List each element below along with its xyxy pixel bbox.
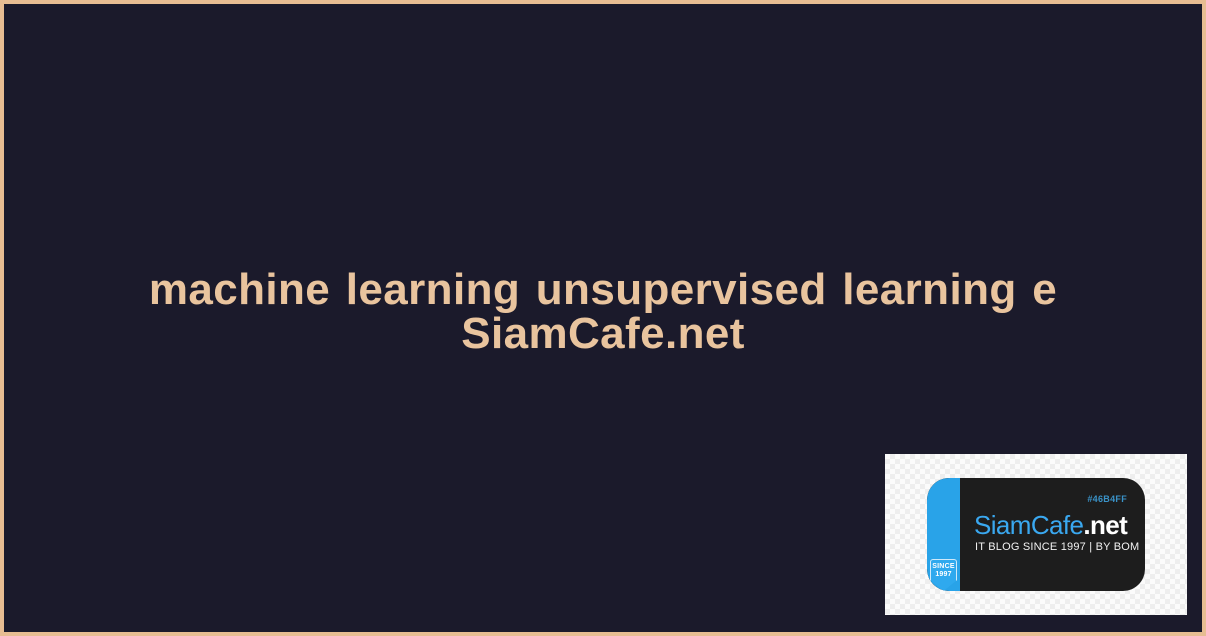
logo-image-figure[interactable]: SINCE 1997 #46B4FF SiamCafe.net IT BLOG … <box>885 454 1187 615</box>
since-badge-line1: SINCE <box>931 563 956 571</box>
headline-block: machine learning unsupervised learning e… <box>4 268 1202 356</box>
logo-wordmark: SiamCafe.net <box>974 510 1127 540</box>
hex-color-label: #46B4FF <box>1087 494 1127 504</box>
logo-content: #46B4FF SiamCafe.net IT BLOG SINCE 1997 … <box>960 478 1145 591</box>
logo-tagline: IT BLOG SINCE 1997 | BY BOM <box>975 541 1139 553</box>
since-badge-line2: 1997 <box>931 571 956 579</box>
page-title: machine learning unsupervised learning e… <box>94 268 1112 356</box>
since-1997-badge-icon: SINCE 1997 <box>930 559 957 591</box>
logo-wordmark-tld: .net <box>1083 510 1127 540</box>
logo-accent-panel: SINCE 1997 <box>927 478 960 591</box>
page-root: machine learning unsupervised learning e… <box>0 0 1206 636</box>
logo-wordmark-brand: SiamCafe <box>974 510 1083 540</box>
siamcafe-logo-card: SINCE 1997 #46B4FF SiamCafe.net IT BLOG … <box>927 478 1145 591</box>
